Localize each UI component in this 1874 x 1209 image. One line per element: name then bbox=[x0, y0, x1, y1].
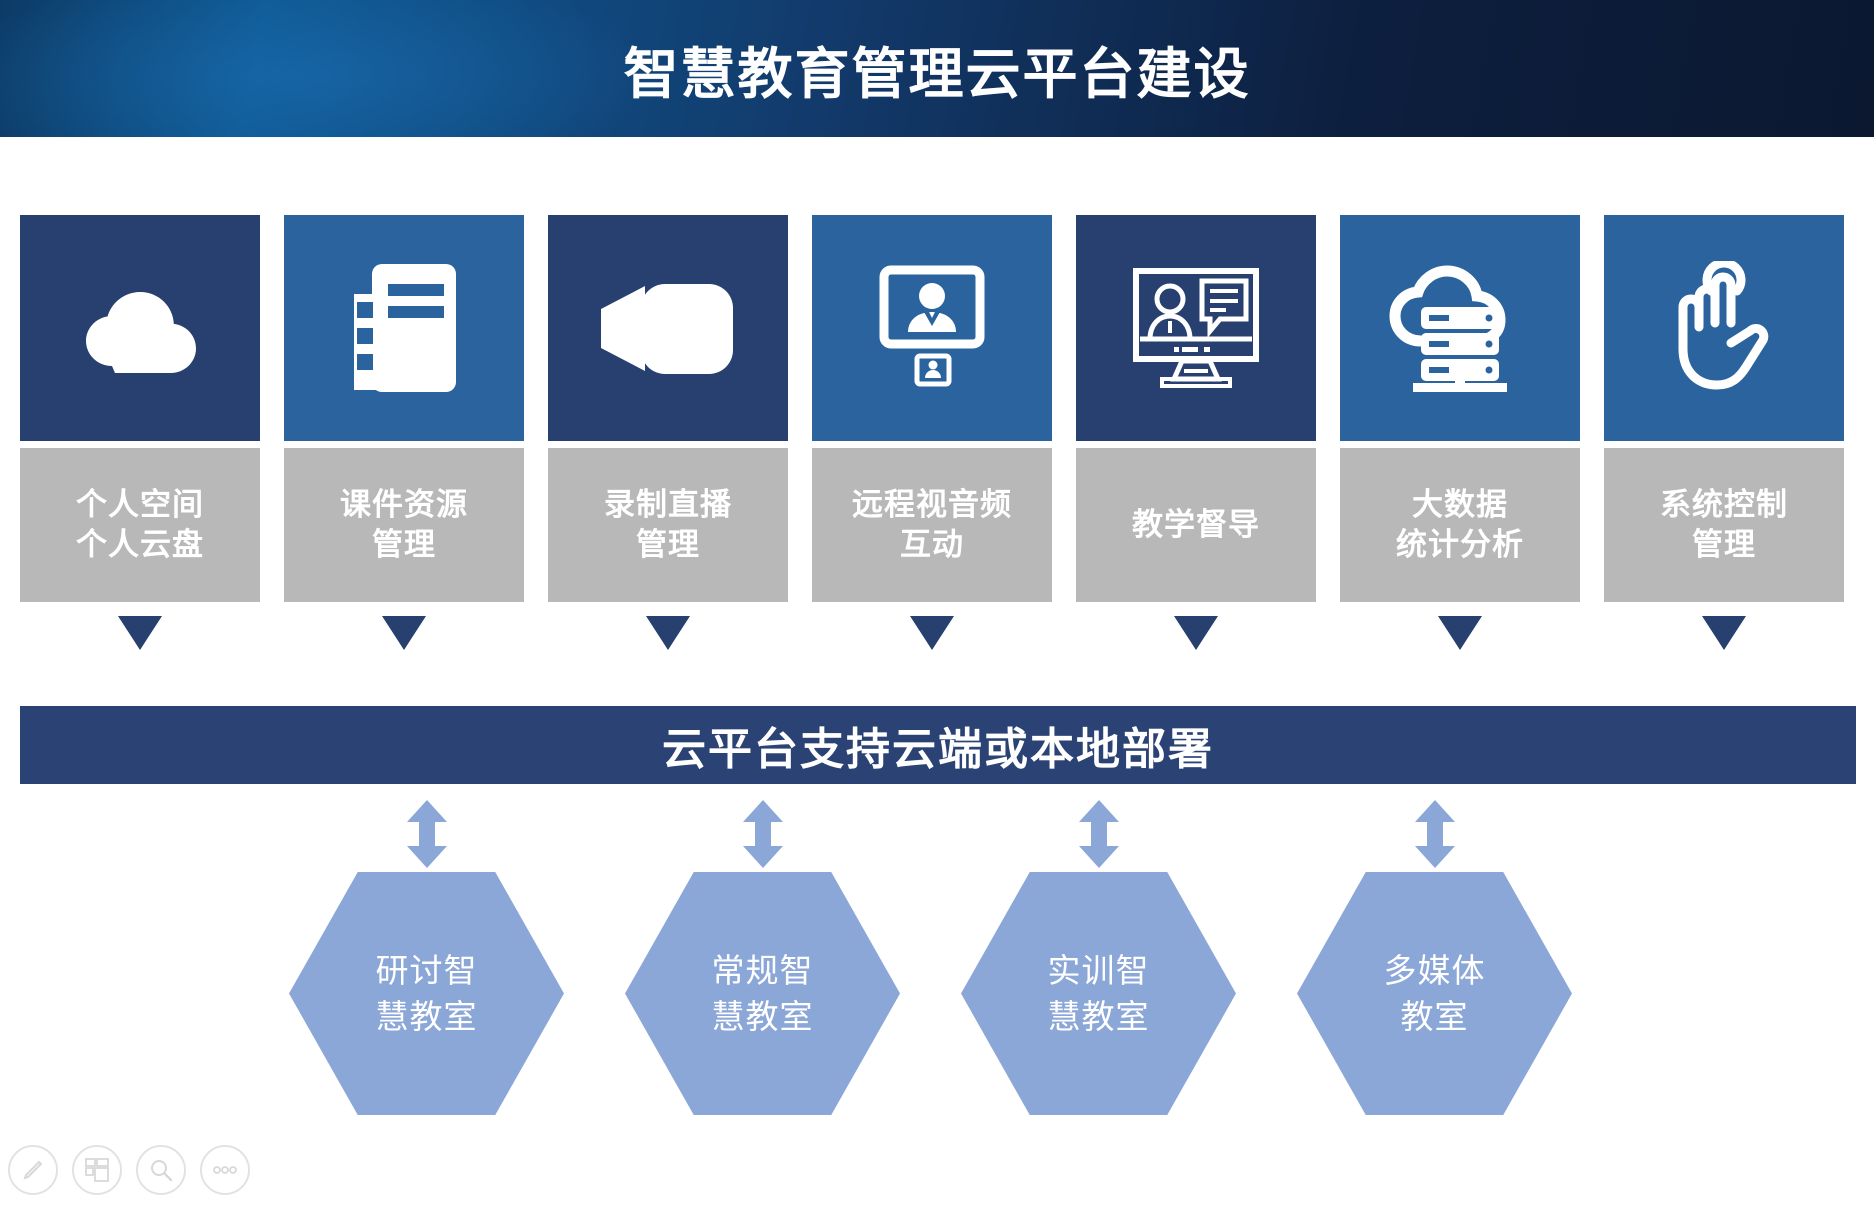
module-column-courseware[interactable]: 课件资源 管理 bbox=[284, 215, 524, 650]
video-conference-icon bbox=[872, 264, 992, 392]
classroom-hexagon: 研讨智 慧教室 bbox=[289, 872, 564, 1115]
module-column-big-data[interactable]: 大数据 统计分析 bbox=[1340, 215, 1580, 650]
module-label-line2: 个人云盘 bbox=[76, 525, 204, 565]
down-arrow-icon bbox=[118, 616, 162, 650]
classroom-hexagon: 常规智 慧教室 bbox=[625, 872, 900, 1115]
layout-tool-button[interactable] bbox=[72, 1145, 122, 1195]
courseware-binder-icon bbox=[344, 258, 464, 398]
classroom-label-line2: 教室 bbox=[1384, 994, 1486, 1040]
video-camera-icon bbox=[593, 276, 743, 381]
title-banner: 智慧教育管理云平台建设 bbox=[0, 0, 1874, 137]
module-icon-box bbox=[284, 215, 524, 441]
classroom-item[interactable]: 多媒体 教室 bbox=[1297, 800, 1572, 1115]
classroom-item[interactable]: 实训智 慧教室 bbox=[961, 800, 1236, 1115]
layout-icon bbox=[84, 1157, 110, 1183]
down-arrow-icon bbox=[910, 616, 954, 650]
double-arrow-icon bbox=[1076, 800, 1122, 868]
classroom-hexagon: 多媒体 教室 bbox=[1297, 872, 1572, 1115]
cloud-server-icon bbox=[1385, 263, 1535, 393]
classroom-row: 研讨智 慧教室 常规智 慧教室 实训智 慧教室 bbox=[289, 800, 1589, 1160]
down-arrow-icon bbox=[1438, 616, 1482, 650]
monitor-teaching-icon bbox=[1126, 263, 1266, 393]
module-card-row: 个人空间 个人云盘 课件资源 管理 bbox=[20, 215, 1856, 650]
module-label: 教学督导 bbox=[1076, 448, 1316, 602]
classroom-hexagon: 实训智 慧教室 bbox=[961, 872, 1236, 1115]
module-label-line2: 互动 bbox=[852, 525, 1012, 565]
module-column-remote-av[interactable]: 远程视音频 互动 bbox=[812, 215, 1052, 650]
down-arrow-icon bbox=[1174, 616, 1218, 650]
module-label-line1: 系统控制 bbox=[1660, 485, 1788, 525]
double-arrow-icon bbox=[740, 800, 786, 868]
module-label: 大数据 统计分析 bbox=[1340, 448, 1580, 602]
module-label-line2: 管理 bbox=[1660, 525, 1788, 565]
module-icon-box bbox=[1340, 215, 1580, 441]
classroom-label-line1: 常规智 bbox=[712, 948, 814, 994]
module-label: 系统控制 管理 bbox=[1604, 448, 1844, 602]
double-arrow-icon bbox=[1412, 800, 1458, 868]
module-column-system-control[interactable]: 系统控制 管理 bbox=[1604, 215, 1844, 650]
down-arrow-icon bbox=[646, 616, 690, 650]
classroom-label-line2: 慧教室 bbox=[712, 994, 814, 1040]
module-label: 录制直播 管理 bbox=[548, 448, 788, 602]
pen-tool-button[interactable] bbox=[8, 1145, 58, 1195]
classroom-label-line1: 实训智 bbox=[1048, 948, 1150, 994]
cloud-platform-bar: 云平台支持云端或本地部署 bbox=[20, 706, 1856, 784]
search-icon bbox=[148, 1157, 174, 1183]
pen-icon bbox=[21, 1158, 45, 1182]
double-arrow-icon bbox=[404, 800, 450, 868]
module-label: 个人空间 个人云盘 bbox=[20, 448, 260, 602]
module-icon-box bbox=[812, 215, 1052, 441]
module-icon-box bbox=[1604, 215, 1844, 441]
module-icon-box bbox=[1076, 215, 1316, 441]
more-tool-button[interactable] bbox=[200, 1145, 250, 1195]
classroom-item[interactable]: 研讨智 慧教室 bbox=[289, 800, 564, 1115]
module-label: 课件资源 管理 bbox=[284, 448, 524, 602]
more-icon bbox=[211, 1165, 239, 1175]
module-label-line1: 远程视音频 bbox=[852, 485, 1012, 525]
module-label-line2: 管理 bbox=[340, 525, 468, 565]
page-title: 智慧教育管理云平台建设 bbox=[623, 29, 1250, 109]
module-label-line1: 教学督导 bbox=[1132, 505, 1260, 545]
hand-touch-icon bbox=[1659, 261, 1789, 396]
module-label-line1: 录制直播 bbox=[604, 485, 732, 525]
module-column-recording-live[interactable]: 录制直播 管理 bbox=[548, 215, 788, 650]
down-arrow-icon bbox=[382, 616, 426, 650]
bottom-toolbar bbox=[8, 1145, 250, 1195]
module-label-line2: 管理 bbox=[604, 525, 732, 565]
module-icon-box bbox=[548, 215, 788, 441]
cloud-icon bbox=[70, 278, 210, 378]
classroom-label-line2: 慧教室 bbox=[1048, 994, 1150, 1040]
module-icon-box bbox=[20, 215, 260, 441]
classroom-item[interactable]: 常规智 慧教室 bbox=[625, 800, 900, 1115]
classroom-label-line2: 慧教室 bbox=[376, 994, 478, 1040]
module-label: 远程视音频 互动 bbox=[812, 448, 1052, 602]
module-column-teaching-supervision[interactable]: 教学督导 bbox=[1076, 215, 1316, 650]
module-label-line2: 统计分析 bbox=[1396, 525, 1524, 565]
module-label-line1: 课件资源 bbox=[340, 485, 468, 525]
module-label-line1: 大数据 bbox=[1396, 485, 1524, 525]
module-label-line1: 个人空间 bbox=[76, 485, 204, 525]
down-arrow-icon bbox=[1702, 616, 1746, 650]
classroom-label-line1: 多媒体 bbox=[1384, 948, 1486, 994]
search-tool-button[interactable] bbox=[136, 1145, 186, 1195]
module-column-personal-space[interactable]: 个人空间 个人云盘 bbox=[20, 215, 260, 650]
classroom-label-line1: 研讨智 bbox=[376, 948, 478, 994]
cloud-platform-bar-label: 云平台支持云端或本地部署 bbox=[662, 713, 1214, 777]
